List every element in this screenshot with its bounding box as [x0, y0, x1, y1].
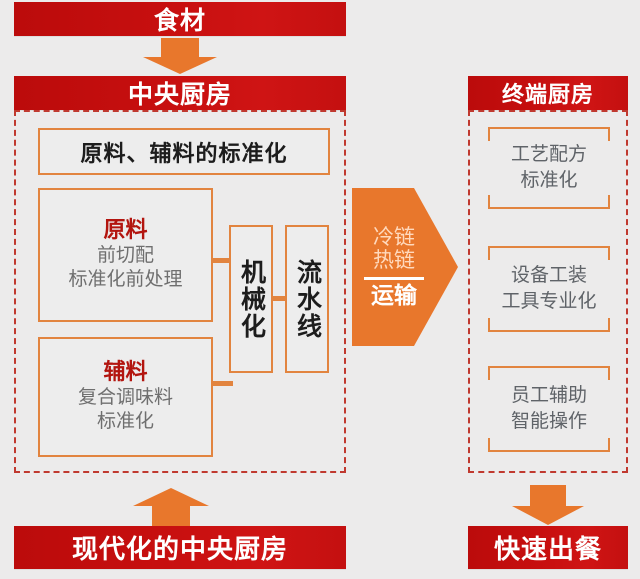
transport-divider: [364, 277, 424, 280]
terminal-item-1-line2: 标准化: [520, 168, 577, 194]
bracket-stub: [608, 438, 610, 452]
bracket-stub: [488, 127, 490, 141]
bracket-stub: [488, 318, 490, 332]
transport-line1: 冷链: [373, 226, 415, 250]
terminal-item-1: 工艺配方 标准化: [488, 127, 610, 209]
box-raw-material-line2: 标准化前处理: [68, 268, 182, 293]
terminal-item-3-line1: 员工辅助: [511, 383, 587, 409]
arrow-up-icon-modern-kitchen: [133, 488, 209, 526]
transport-line2: 热链: [373, 249, 415, 273]
banner-modern-central-kitchen: 现代化的中央厨房: [14, 526, 346, 569]
box-mechanization-label: 机械化: [239, 259, 264, 340]
bracket-stub: [608, 195, 610, 209]
banner-central-kitchen: 中央厨房: [14, 76, 346, 110]
bracket-stub: [608, 246, 610, 260]
box-mechanization: 机械化: [229, 225, 273, 373]
box-auxiliary-material: 辅料 复合调味料 标准化: [38, 337, 213, 457]
bracket-stub: [608, 127, 610, 141]
connector-aux-to-mech: [211, 381, 233, 386]
banner-ingredients-label: 食材: [154, 1, 206, 37]
banner-fast-serving: 快速出餐: [468, 526, 628, 569]
banner-central-kitchen-label: 中央厨房: [128, 75, 232, 111]
box-raw-material-line1: 前切配: [97, 244, 154, 269]
banner-terminal-kitchen: 终端厨房: [468, 76, 628, 110]
banner-terminal-kitchen-label: 终端厨房: [502, 77, 594, 109]
bracket-stub: [608, 318, 610, 332]
banner-ingredients: 食材: [14, 2, 346, 36]
box-auxiliary-material-title: 辅料: [103, 359, 147, 386]
terminal-item-3-line2: 智能操作: [511, 409, 587, 435]
terminal-item-2-line1: 设备工装: [511, 263, 587, 289]
transport-line3: 运输: [371, 283, 417, 308]
bracket-stub: [488, 438, 490, 452]
terminal-item-2-line2: 工具专业化: [501, 289, 596, 315]
terminal-item-1-line1: 工艺配方: [511, 142, 587, 168]
bracket-stub: [488, 366, 490, 380]
terminal-item-2: 设备工装 工具专业化: [488, 246, 610, 332]
transport-chevron-group: 冷链 热链 运输: [352, 188, 458, 346]
box-assembly-line-label: 流水线: [295, 259, 320, 340]
box-material-standardization-label: 原料、辅料的标准化: [80, 136, 287, 168]
arrow-down-icon-fast-serving: [512, 485, 584, 525]
box-raw-material-title: 原料: [103, 217, 147, 244]
box-raw-material: 原料 前切配 标准化前处理: [38, 188, 213, 322]
banner-modern-central-kitchen-label: 现代化的中央厨房: [72, 529, 288, 566]
banner-fast-serving-label: 快速出餐: [494, 529, 602, 566]
bracket-stub: [488, 195, 490, 209]
diagram-canvas: 食材 中央厨房 原料、辅料的标准化 原料 前切配 标准化前处理 辅料 复合调味料…: [0, 0, 640, 579]
box-auxiliary-material-line2: 标准化: [97, 410, 154, 435]
terminal-item-3: 员工辅助 智能操作: [488, 366, 610, 452]
box-material-standardization: 原料、辅料的标准化: [38, 128, 330, 175]
bracket-stub: [488, 246, 490, 260]
box-auxiliary-material-line1: 复合调味料: [78, 386, 173, 411]
arrow-down-icon-ingredients: [143, 38, 217, 74]
bracket-stub: [608, 366, 610, 380]
box-assembly-line: 流水线: [285, 225, 329, 373]
